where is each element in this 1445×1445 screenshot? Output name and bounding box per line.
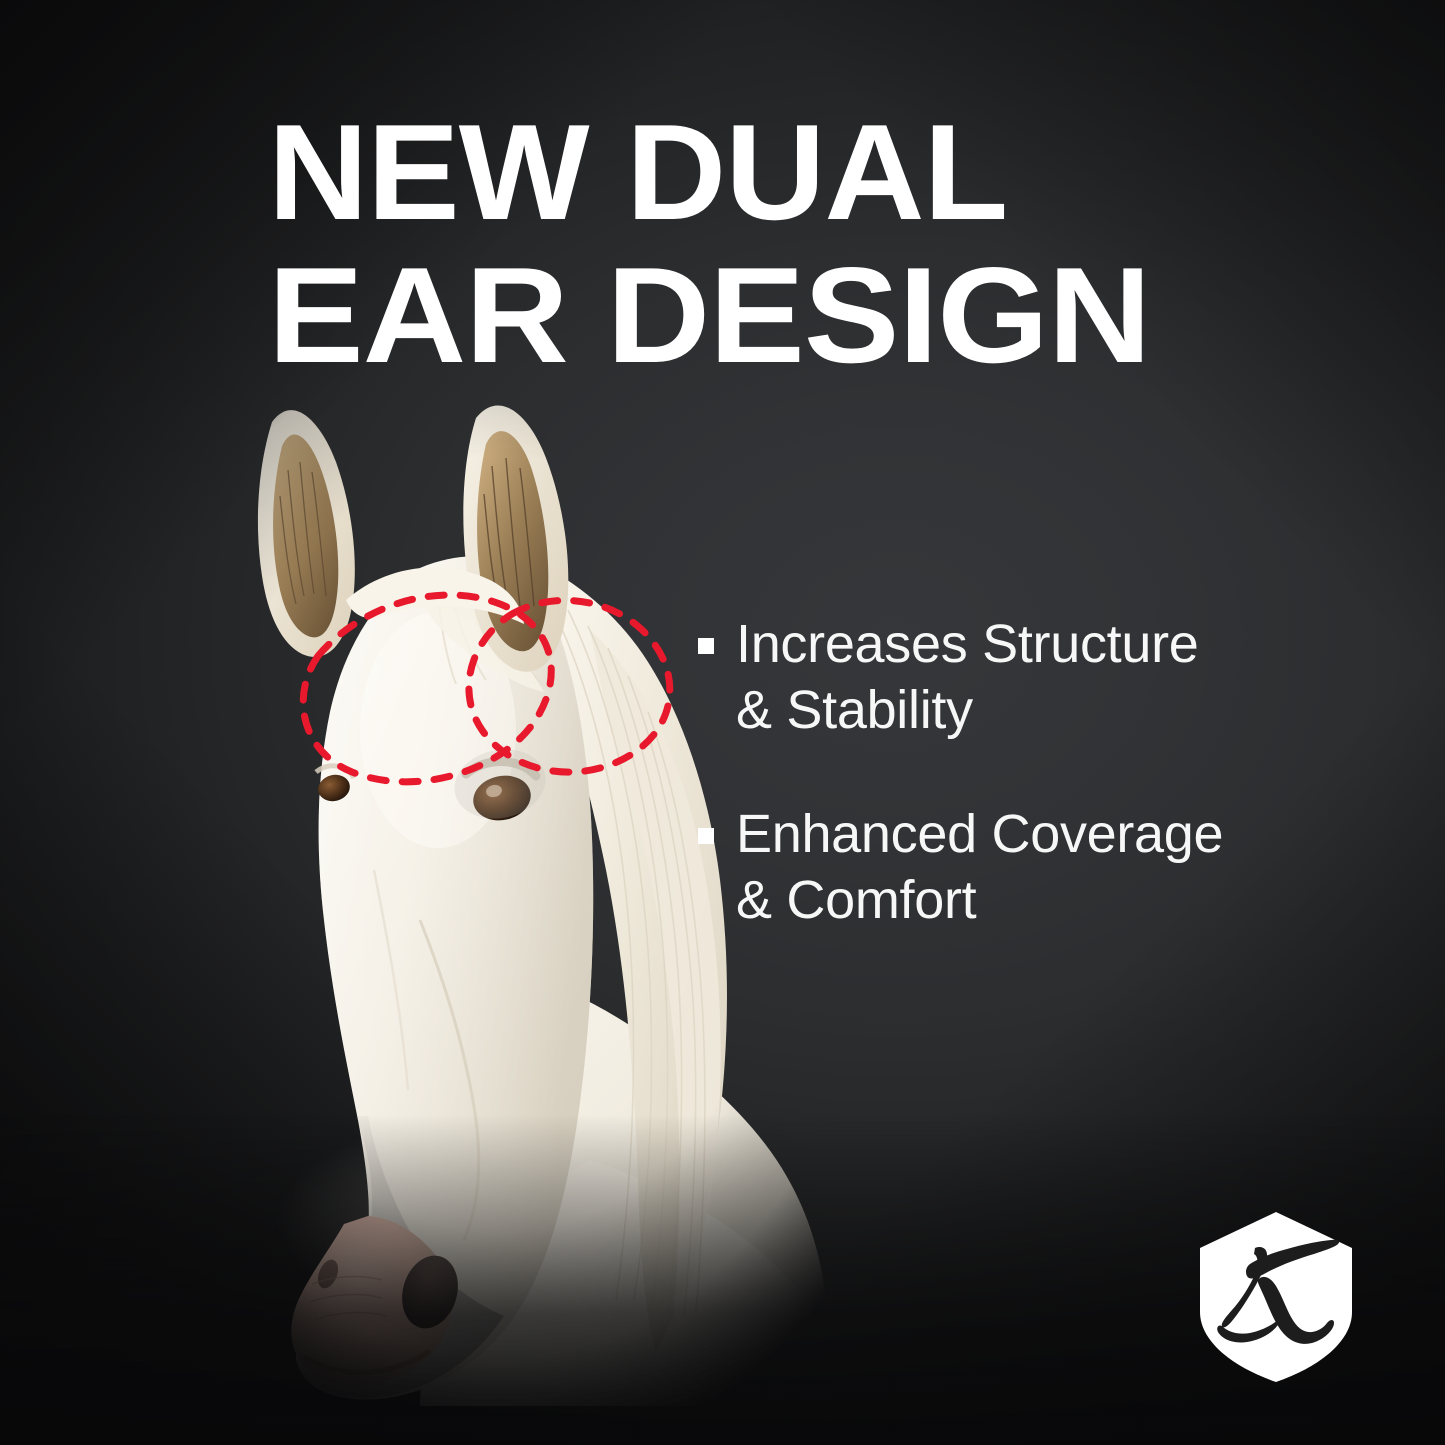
marketing-banner: NEW DUAL EAR DESIGN Increases Structure … (0, 0, 1445, 1445)
headline-line-2: EAR DESIGN (268, 251, 1249, 380)
feature-text: Enhanced Coverage & Comfort (736, 802, 1223, 934)
list-item: Enhanced Coverage & Comfort (698, 802, 1358, 934)
square-bullet-icon (698, 638, 714, 654)
page-title: NEW DUAL EAR DESIGN (268, 108, 1198, 380)
feature-line-2: & Comfort (736, 870, 976, 930)
brand-logo (1192, 1208, 1360, 1386)
feature-line-1: Enhanced Coverage (736, 804, 1223, 864)
square-bullet-icon (698, 828, 714, 844)
feature-text: Increases Structure & Stability (736, 612, 1199, 744)
feature-line-1: Increases Structure (736, 614, 1199, 674)
feature-list: Increases Structure & Stability Enhanced… (698, 612, 1358, 992)
headline-line-1: NEW DUAL (268, 108, 1217, 237)
list-item: Increases Structure & Stability (698, 612, 1358, 744)
feature-line-2: & Stability (736, 680, 973, 740)
